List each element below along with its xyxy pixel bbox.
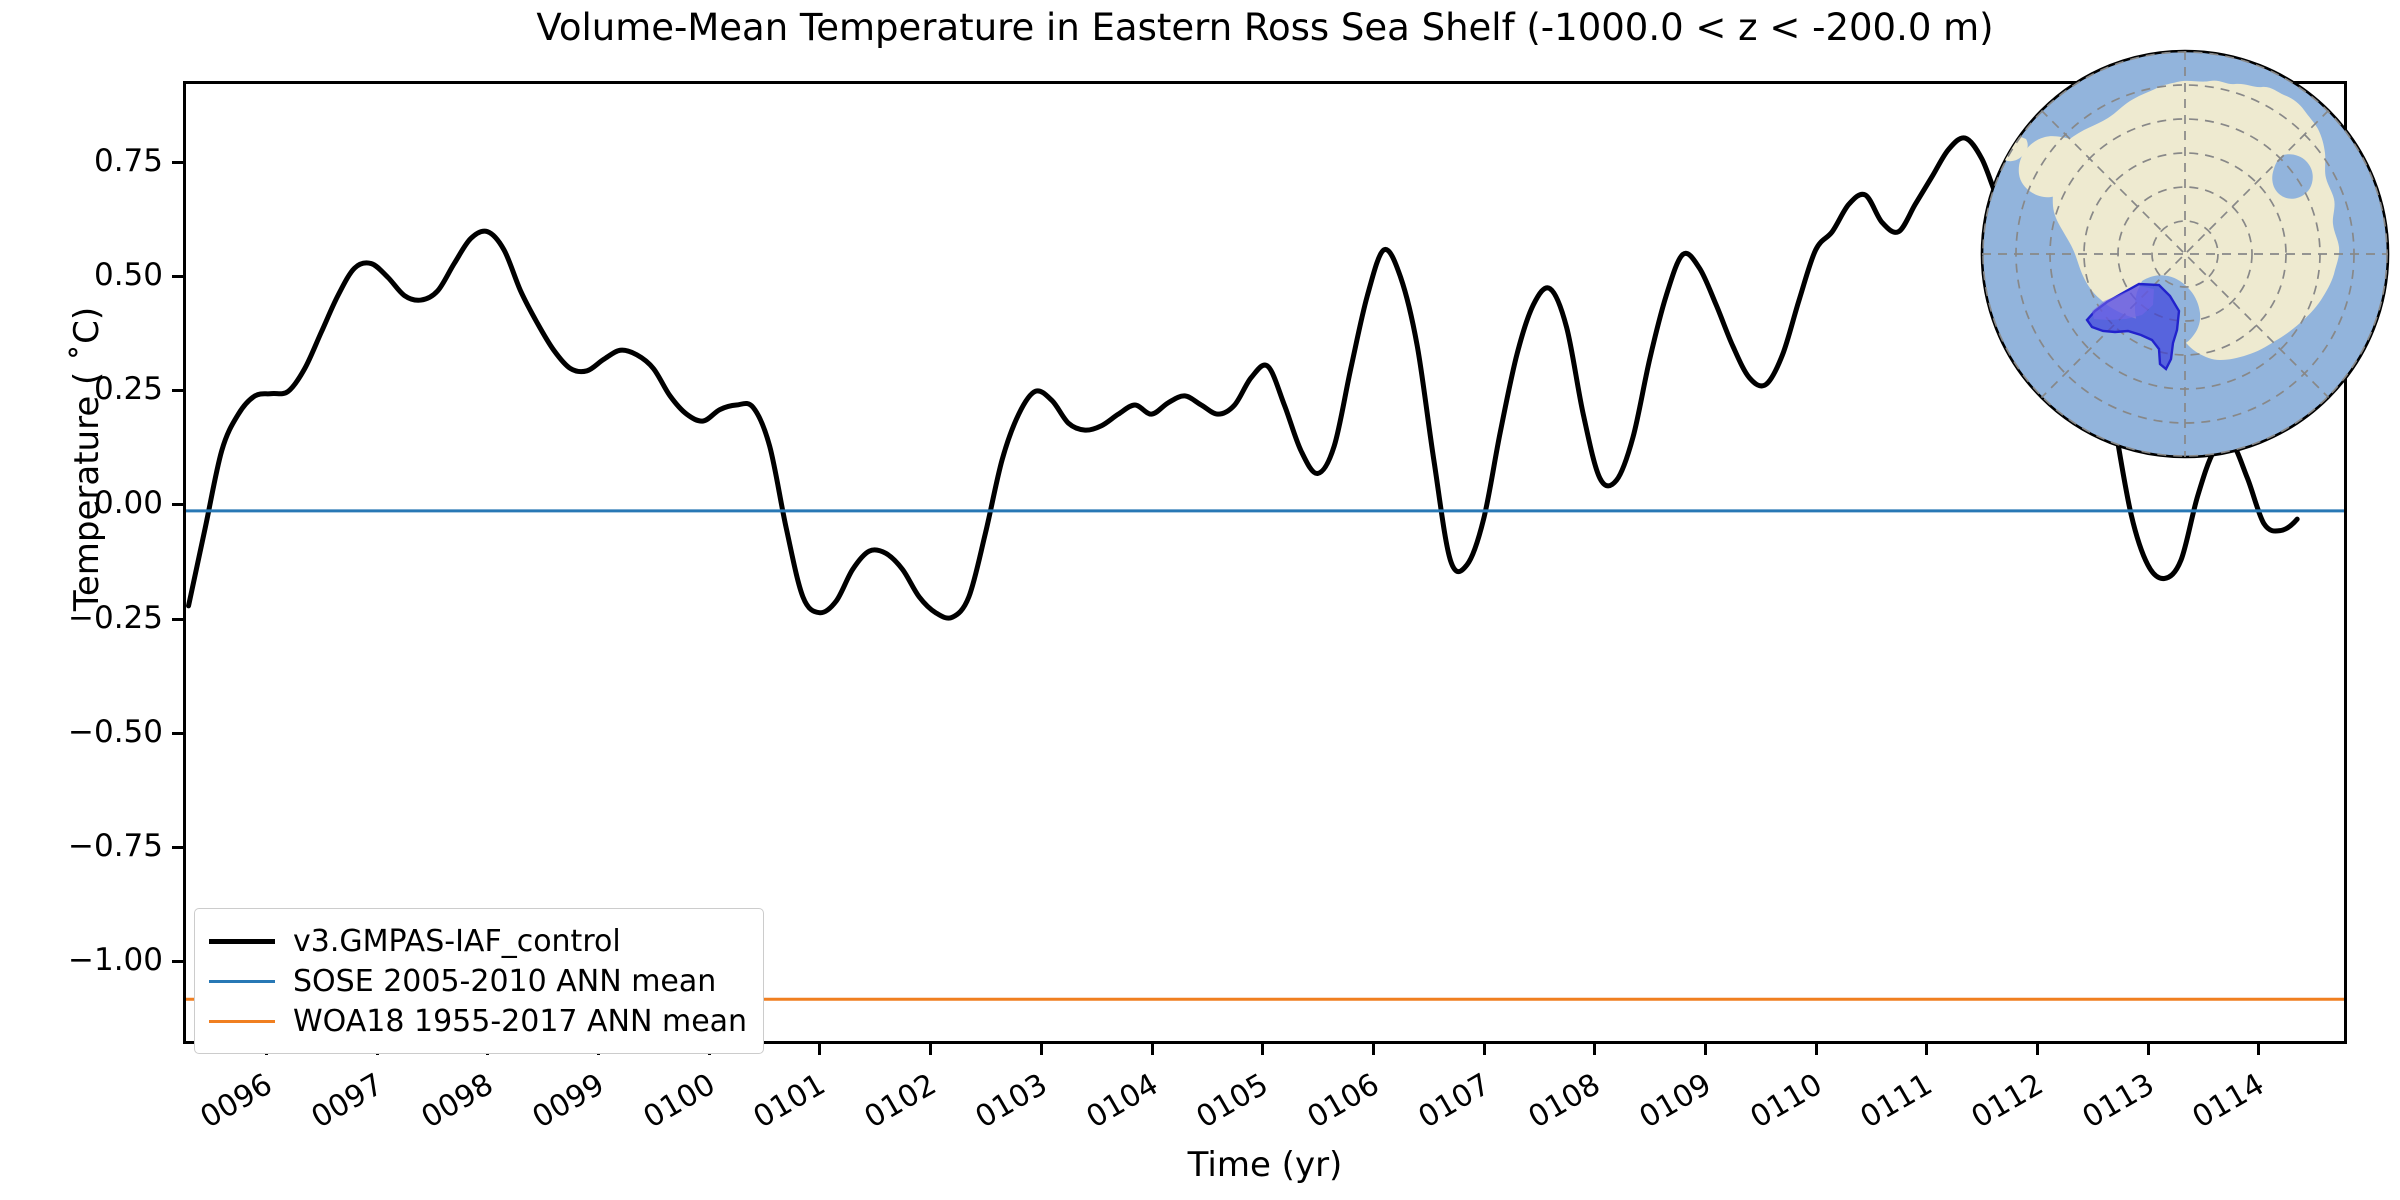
- y-tick-mark: [172, 732, 183, 735]
- legend-color-swatch: [209, 1020, 275, 1023]
- x-tick-mark: [2147, 1044, 2150, 1055]
- y-tick-mark: [172, 161, 183, 164]
- y-tick-label: −0.50: [68, 714, 163, 750]
- legend-item[interactable]: v3.GMPAS-IAF_control: [209, 921, 747, 961]
- legend-label: v3.GMPAS-IAF_control: [293, 924, 621, 959]
- y-tick-label: −1.00: [68, 942, 163, 978]
- x-tick-mark: [2036, 1044, 2039, 1055]
- legend-label: SOSE 2005-2010 ANN mean: [293, 964, 716, 999]
- y-tick-label: −0.25: [68, 600, 163, 636]
- y-tick-mark: [172, 618, 183, 621]
- y-tick-mark: [172, 960, 183, 963]
- y-tick-label: 0.75: [94, 143, 163, 179]
- legend-color-swatch: [209, 939, 275, 944]
- x-tick-mark: [1925, 1044, 1928, 1055]
- legend-item[interactable]: WOA18 1955-2017 ANN mean: [209, 1001, 747, 1041]
- legend-item[interactable]: SOSE 2005-2010 ANN mean: [209, 961, 747, 1001]
- x-tick-mark: [2257, 1044, 2260, 1055]
- x-tick-mark: [1372, 1044, 1375, 1055]
- x-axis-label: Time (yr): [183, 1145, 2347, 1185]
- legend-color-swatch: [209, 980, 275, 983]
- x-tick-mark: [1483, 1044, 1486, 1055]
- x-tick-mark: [1815, 1044, 1818, 1055]
- y-tick-mark: [172, 389, 183, 392]
- y-tick-label: 0.50: [94, 257, 163, 293]
- y-tick-label: −0.75: [68, 828, 163, 864]
- y-tick-label: 0.25: [94, 371, 163, 407]
- x-tick-mark: [818, 1044, 821, 1055]
- x-tick-mark: [1704, 1044, 1707, 1055]
- y-tick-label: 0.00: [94, 485, 163, 521]
- antarctica-region-inset: [1974, 43, 2396, 465]
- figure-canvas: Volume-Mean Temperature in Eastern Ross …: [0, 0, 2400, 1200]
- x-tick-mark: [1593, 1044, 1596, 1055]
- legend: v3.GMPAS-IAF_controlSOSE 2005-2010 ANN m…: [194, 908, 764, 1054]
- x-tick-mark: [1151, 1044, 1154, 1055]
- x-tick-mark: [1261, 1044, 1264, 1055]
- x-tick-mark: [1040, 1044, 1043, 1055]
- y-tick-mark: [172, 846, 183, 849]
- y-tick-mark: [172, 503, 183, 506]
- x-tick-mark: [929, 1044, 932, 1055]
- legend-label: WOA18 1955-2017 ANN mean: [293, 1004, 747, 1039]
- y-tick-mark: [172, 275, 183, 278]
